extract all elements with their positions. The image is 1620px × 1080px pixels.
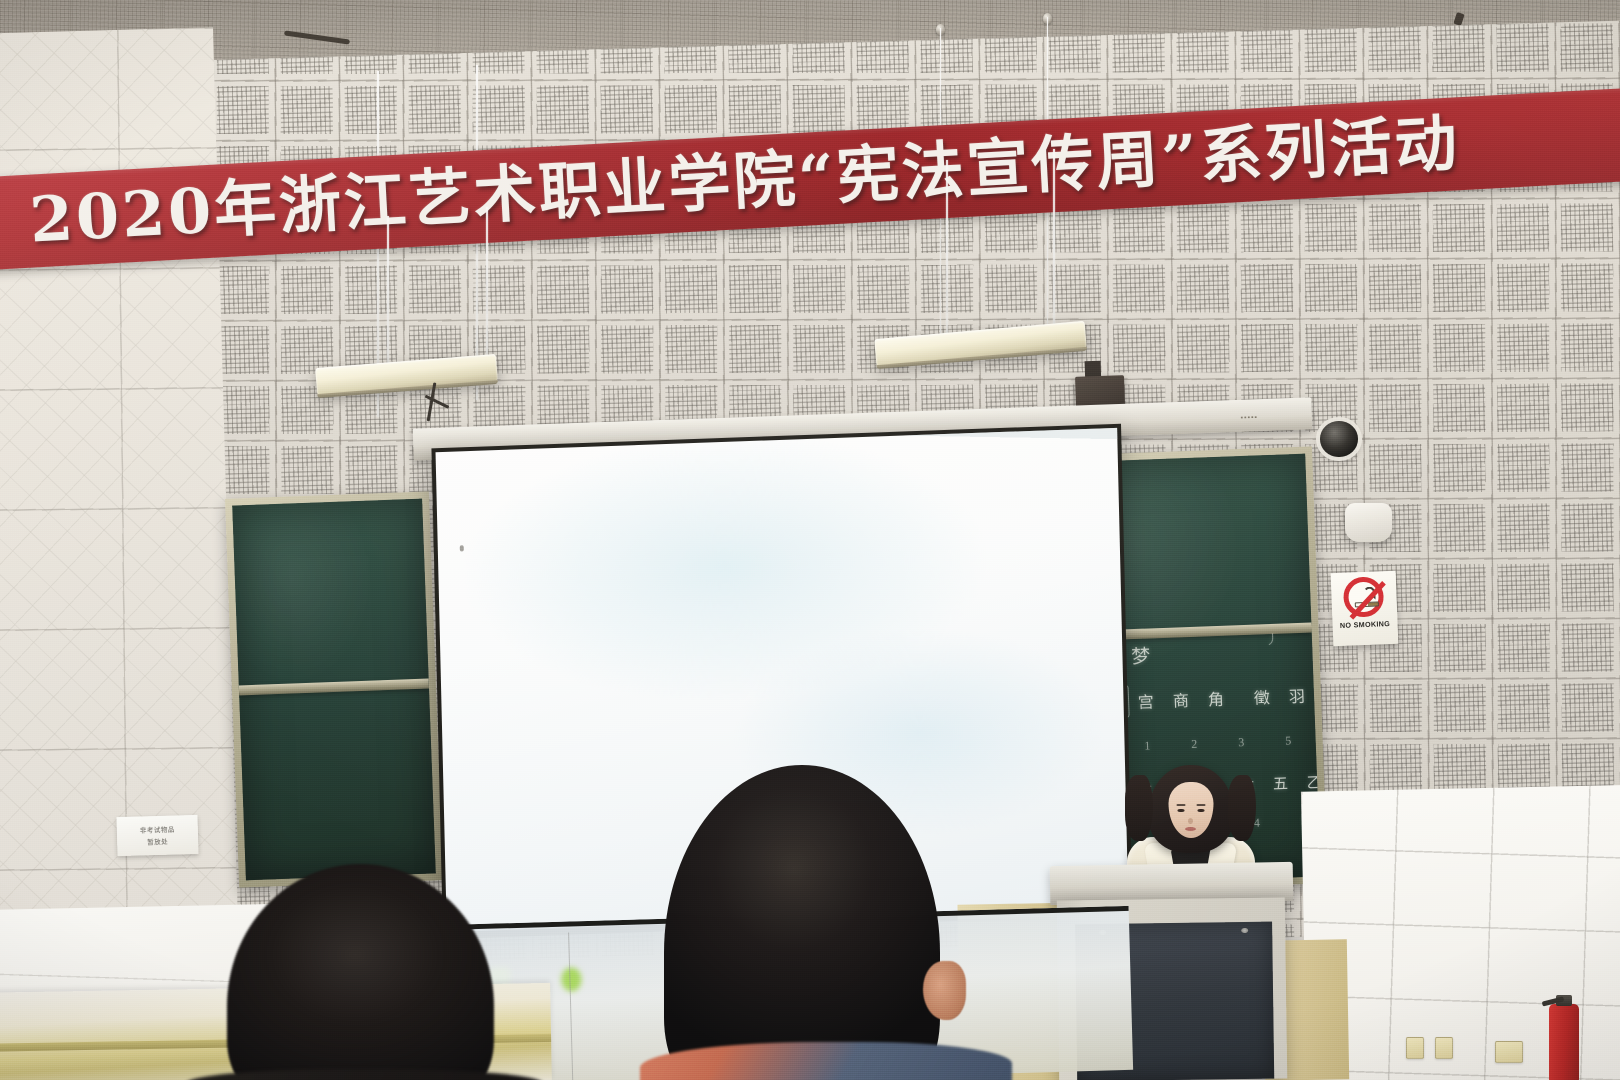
- fire-extinguisher: [1549, 1004, 1580, 1080]
- paper-notice-sign: 非考试物品 暂放处: [116, 815, 198, 856]
- presenter-eye-right: [1197, 809, 1204, 812]
- cigarette-glyph: [1355, 602, 1379, 608]
- no-smoking-sign: NO SMOKING: [1330, 571, 1398, 647]
- wall-outlet-1[interactable]: [1406, 1037, 1424, 1059]
- no-smoking-label: NO SMOKING: [1339, 619, 1389, 630]
- dome-security-camera: [1320, 421, 1357, 457]
- no-smoking-icon: [1343, 577, 1385, 619]
- presenter-hair-strand-right: [1228, 775, 1256, 841]
- screen-mount-bracket: [424, 382, 464, 422]
- smoke-glyph: [1363, 587, 1375, 600]
- screen-brand-label: ▪▪▪▪▪: [1241, 414, 1259, 422]
- presenter-brow-left: [1176, 804, 1185, 806]
- chalk-row-1-numbers: 1 2 3 5 6: [1144, 732, 1321, 755]
- blackboard-left: [225, 491, 443, 887]
- paper-notice-line-2: 暂放处: [147, 837, 168, 848]
- blackboard-left-surface: [232, 498, 436, 880]
- audience-ear-center: [923, 961, 965, 1019]
- projected-blob-3: [561, 967, 582, 992]
- presenter-brow-right: [1196, 804, 1205, 806]
- hanger-wire-1-lower: [387, 216, 389, 378]
- presenter-eye-left: [1177, 809, 1184, 812]
- presenter-mouth: [1185, 827, 1196, 831]
- lectern-screw-right: [1241, 927, 1248, 932]
- chalk-heading: 梦: [1131, 642, 1158, 670]
- wall-switch-panel[interactable]: [1495, 1041, 1523, 1063]
- presenter-nose: [1188, 818, 1193, 824]
- blackboard-left-divider: [238, 678, 428, 695]
- paper-notice-line-1: 非考试物品: [139, 824, 174, 835]
- presenter-hair-strand-left: [1125, 775, 1153, 841]
- wall-speaker: [1345, 503, 1392, 542]
- projected-seam-1: [568, 933, 574, 1080]
- chalk-row-1: 宫 商 角 徵 羽: [1137, 683, 1312, 713]
- wall-outlet-2[interactable]: [1435, 1037, 1453, 1059]
- classroom-photo-scene: 2020年浙江艺术职业学院“宪法宣传周”系列活动 ▪▪▪▪▪ 梦 丿 五 均 宫…: [0, 0, 1620, 1080]
- screen-blemish: [460, 545, 464, 551]
